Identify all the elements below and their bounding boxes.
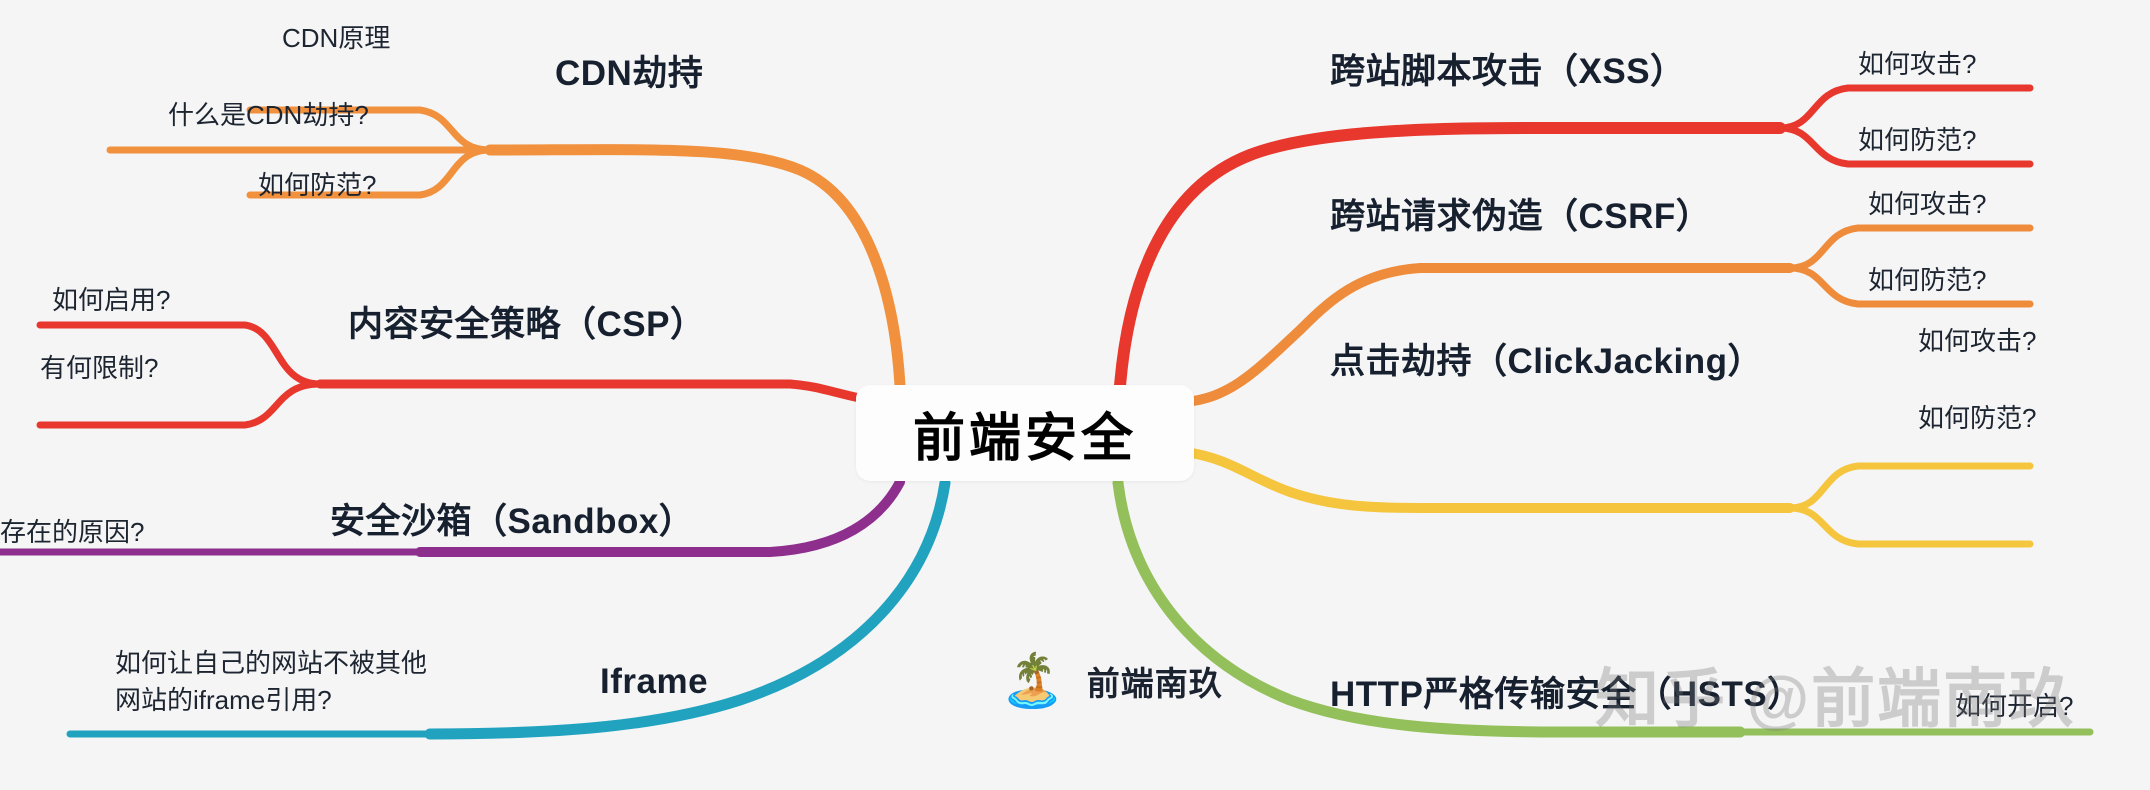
central-topic-label: 前端安全 [913, 396, 1137, 471]
wire-click-leaf-1 [1790, 466, 2030, 508]
leaf-sandbox-reason[interactable]: 存在的原因? [0, 516, 144, 549]
wire-click-leaf-2 [1790, 508, 2030, 544]
leaf-cdn-principle[interactable]: CDN原理 [282, 22, 390, 55]
watermark: 知乎 @前端南玖 [1595, 648, 2075, 740]
leaf-xss-attack[interactable]: 如何攻击? [1858, 48, 1976, 81]
wire-csp-trunk [320, 384, 870, 400]
desert-island-icon: 🏝️ [1000, 655, 1065, 707]
brand-signature: 🏝️ 前端南玖 [1000, 655, 1223, 707]
central-topic-node[interactable]: 前端安全 [856, 385, 1194, 481]
leaf-iframe-protect[interactable]: 如何让自己的网站不被其他网站的iframe引用? [115, 645, 445, 719]
leaf-csp-enable[interactable]: 如何启用? [52, 284, 170, 317]
leaf-click-prevent[interactable]: 如何防范? [1918, 402, 2036, 435]
mindmap-canvas: 前端安全 CDN劫持 CDN原理 什么是CDN劫持? 如何防范? 内容安全策略（… [0, 0, 2150, 790]
branch-label-cdn[interactable]: CDN劫持 [555, 52, 703, 96]
leaf-cdn-what-is[interactable]: 什么是CDN劫持? [168, 99, 369, 132]
leaf-csrf-attack[interactable]: 如何攻击? [1868, 188, 1986, 221]
wire-cdn-trunk [490, 150, 900, 386]
leaf-csp-limits[interactable]: 有何限制? [40, 352, 158, 385]
branch-label-clickjacking[interactable]: 点击劫持（ClickJacking） [1330, 340, 1763, 384]
leaf-cdn-prevent[interactable]: 如何防范? [258, 169, 376, 202]
branch-label-iframe[interactable]: Iframe [600, 660, 708, 704]
wire-xss-leaf-1 [1780, 88, 2030, 128]
leaf-xss-prevent[interactable]: 如何防范? [1858, 124, 1976, 157]
branch-label-csrf[interactable]: 跨站请求伪造（CSRF） [1330, 195, 1711, 239]
brand-name: 前端南玖 [1087, 657, 1223, 705]
leaf-csrf-prevent[interactable]: 如何防范? [1868, 264, 1986, 297]
branch-label-xss[interactable]: 跨站脚本攻击（XSS） [1330, 50, 1686, 94]
leaf-click-attack[interactable]: 如何攻击? [1918, 325, 2036, 358]
wire-csrf-leaf-1 [1790, 228, 2030, 268]
branch-label-sandbox[interactable]: 安全沙箱（Sandbox） [330, 500, 694, 544]
wire-csp-leaf-2 [40, 384, 320, 425]
branch-label-csp[interactable]: 内容安全策略（CSP） [348, 303, 705, 347]
wire-click-trunk [1185, 452, 1790, 508]
